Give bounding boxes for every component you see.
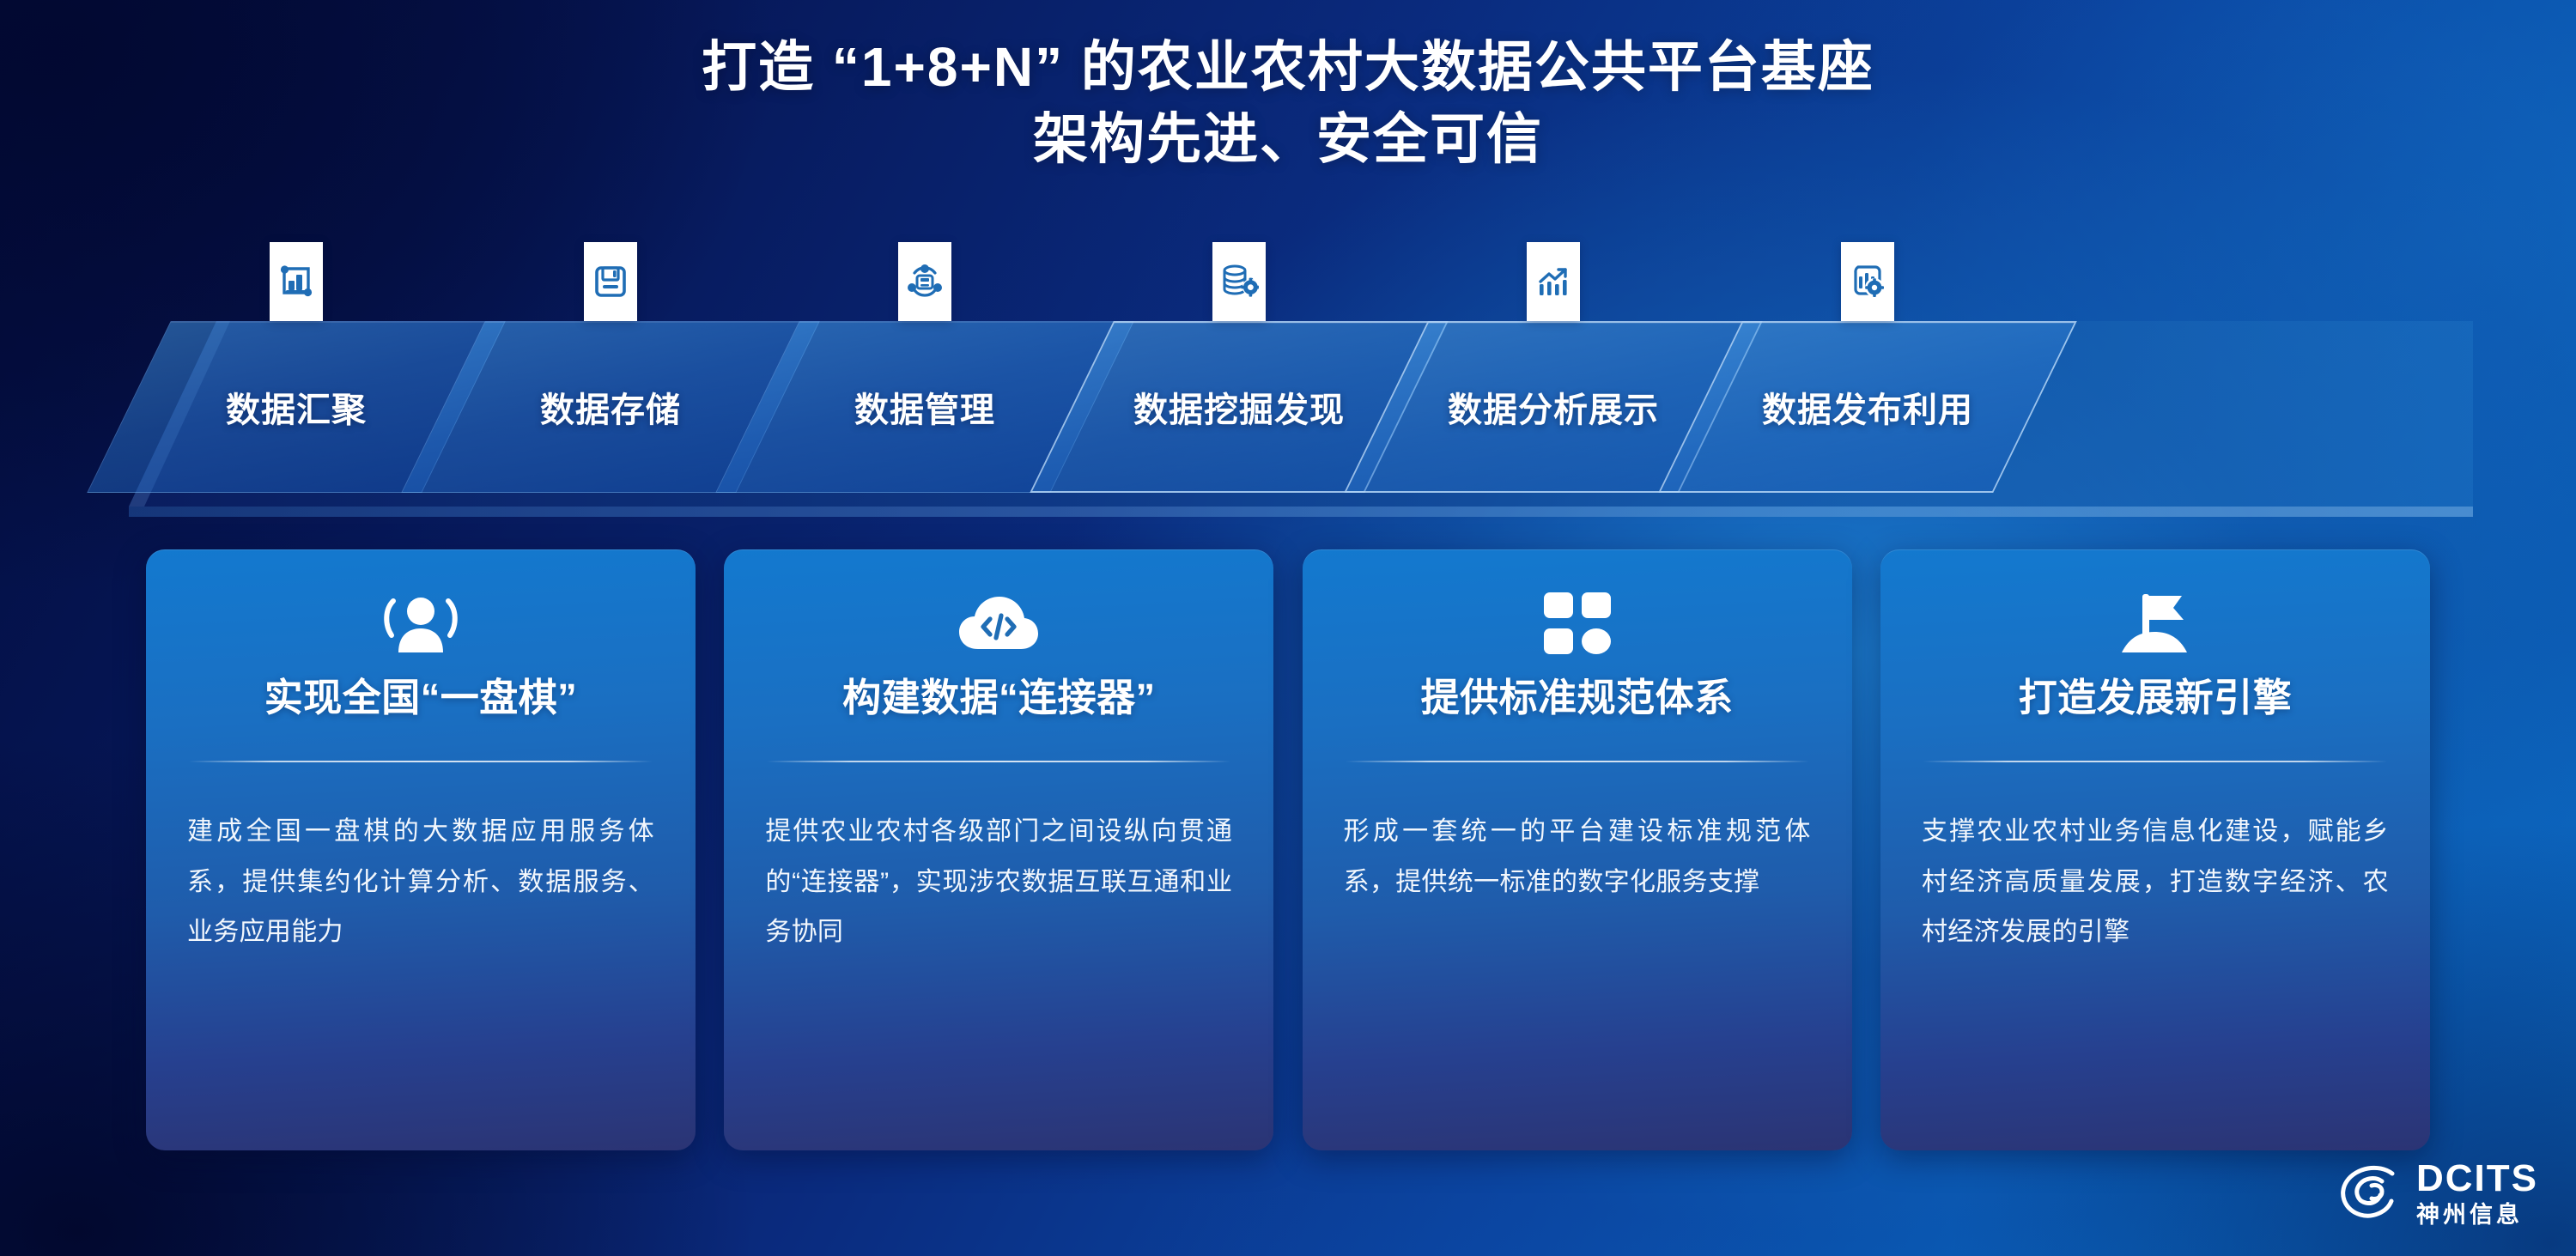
process-step-2[interactable]: 数据存储 (443, 321, 778, 493)
process-step-list: 数据汇聚 数据存储 (129, 321, 2464, 493)
benefit-card-list: 实现全国“一盘棋” 建成全国一盘棋的大数据应用服务体系，提供集约化计算分析、数据… (146, 549, 2430, 1150)
card-divider (189, 761, 653, 762)
card-body: 提供农业农村各级部门之间设纵向贯通的“连接器”，实现涉农数据互联互通和业务协同 (765, 807, 1232, 958)
card-divider (1923, 761, 2387, 762)
cloud-code-icon (765, 549, 1232, 670)
server-nodes-icon (898, 242, 951, 321)
company-logo: DCITS 神州信息 (2337, 1160, 2538, 1227)
logo-wordmark: DCITS 神州信息 (2416, 1160, 2538, 1227)
title-line-2: 架构先进、安全可信 (0, 103, 2576, 175)
flag-hill-icon (1922, 549, 2389, 670)
step-label: 数据存储 (443, 321, 778, 493)
process-step-4[interactable]: 数据挖掘发现 (1072, 321, 1406, 493)
step-label: 数据挖掘发现 (1072, 321, 1406, 493)
slide-canvas: 打造 “1+8+N” 的农业农村大数据公共平台基座 架构先进、安全可信 (0, 0, 2576, 1256)
card-title: 构建数据“连接器” (765, 675, 1232, 721)
four-blocks-icon (1344, 549, 1811, 670)
card-title: 实现全国“一盘棋” (187, 675, 654, 721)
trend-bars-icon (1527, 242, 1580, 321)
card-body: 形成一套统一的平台建设标准规范体系，提供统一标准的数字化服务支撑 (1344, 807, 1811, 907)
card-body: 建成全国一盘棋的大数据应用服务体系，提供集约化计算分析、数据服务、业务应用能力 (187, 807, 654, 958)
benefit-card-1[interactable]: 实现全国“一盘棋” 建成全国一盘棋的大数据应用服务体系，提供集约化计算分析、数据… (146, 549, 696, 1150)
step-label: 数据汇聚 (129, 321, 464, 493)
title-line-1: 打造 “1+8+N” 的农业农村大数据公共平台基座 (0, 31, 2576, 103)
dcits-swirl-icon (2337, 1162, 2404, 1224)
benefit-card-3[interactable]: 提供标准规范体系 形成一套统一的平台建设标准规范体系，提供统一标准的数字化服务支… (1303, 549, 1852, 1150)
slide-title: 打造 “1+8+N” 的农业农村大数据公共平台基座 架构先进、安全可信 (0, 31, 2576, 176)
logo-en-text: DCITS (2416, 1160, 2538, 1198)
card-body: 支撑农业农村业务信息化建设，赋能乡村经济高质量发展，打造数字经济、农村经济发展的… (1922, 807, 2389, 958)
card-title: 打造发展新引擎 (1922, 675, 2389, 721)
benefit-card-4[interactable]: 打造发展新引擎 支撑农业农村业务信息化建设，赋能乡村经济高质量发展，打造数字经济… (1880, 549, 2430, 1150)
process-step-1[interactable]: 数据汇聚 (129, 321, 464, 493)
process-band: 数据汇聚 数据存储 (0, 258, 2576, 541)
people-group-icon (187, 549, 654, 670)
card-title: 提供标准规范体系 (1344, 675, 1811, 721)
process-step-5[interactable]: 数据分析展示 (1386, 321, 1721, 493)
card-divider (767, 761, 1230, 762)
database-gear-icon (1212, 242, 1266, 321)
step-label: 数据分析展示 (1386, 321, 1721, 493)
floppy-disk-icon (584, 242, 637, 321)
bar-chart-network-icon (270, 242, 323, 321)
benefit-card-2[interactable]: 构建数据“连接器” 提供农业农村各级部门之间设纵向贯通的“连接器”，实现涉农数据… (724, 549, 1273, 1150)
step-label: 数据管理 (757, 321, 1092, 493)
logo-cn-text: 神州信息 (2416, 1204, 2538, 1227)
card-divider (1346, 761, 1809, 762)
report-gear-icon (1841, 242, 1894, 321)
step-label: 数据发布利用 (1700, 321, 2035, 493)
process-step-3[interactable]: 数据管理 (757, 321, 1092, 493)
process-step-6[interactable]: 数据发布利用 (1700, 321, 2035, 493)
